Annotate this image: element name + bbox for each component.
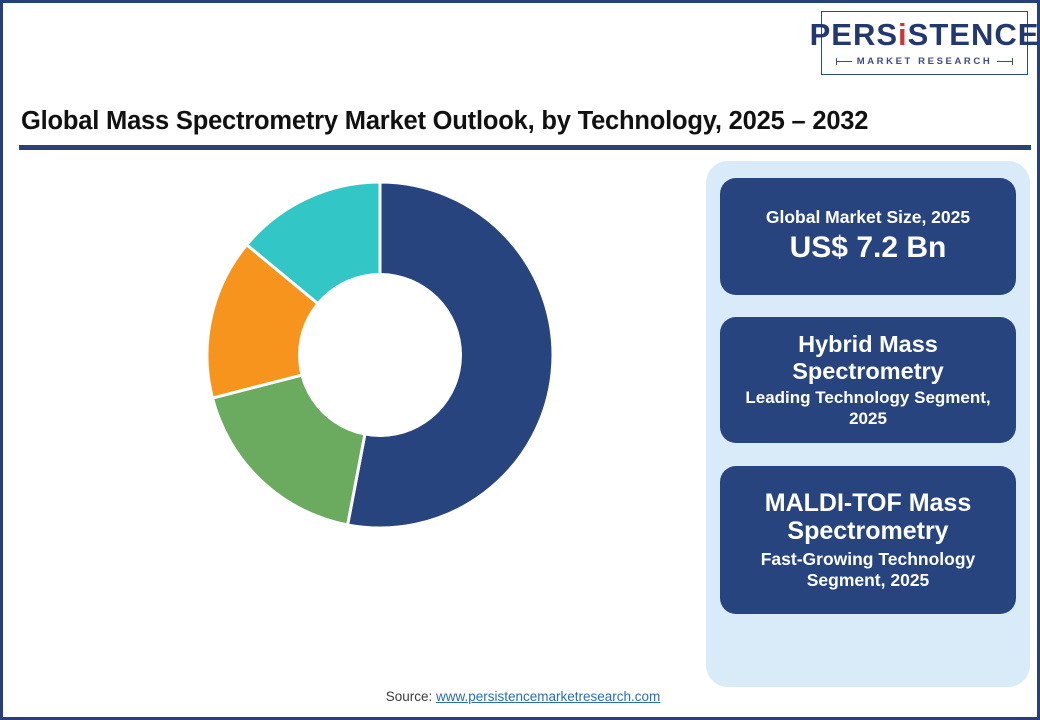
fastest-segment-subtitle: Fast-Growing Technology Segment, 2025 bbox=[720, 549, 1016, 591]
logo-rule-right-icon bbox=[997, 61, 1013, 62]
logo-wordmark: PERSiSTENCE bbox=[810, 19, 1040, 50]
logo-tagline-row: MARKET RESEARCH bbox=[836, 56, 1014, 67]
source-line: Source: www.persistencemarketresearch.co… bbox=[3, 689, 1040, 704]
title-underline-rule bbox=[19, 145, 1031, 150]
market-size-value: US$ 7.2 Bn bbox=[790, 230, 947, 266]
logo-wordmark-part1: PERS bbox=[810, 17, 898, 52]
leading-segment-title: Hybrid Mass Spectrometry bbox=[720, 331, 1016, 384]
highlights-panel: Global Market Size, 2025 US$ 7.2 Bn Hybr… bbox=[706, 161, 1030, 687]
chart-area: Hybrid Mass Spectrometry MALDI-TOF Mass … bbox=[17, 163, 697, 553]
page-title: Global Mass Spectrometry Market Outlook,… bbox=[21, 107, 868, 136]
logo-wordmark-accent-i: i bbox=[898, 17, 908, 52]
logo-rule-left-icon bbox=[836, 61, 852, 62]
card-fastest-growing-segment: MALDI-TOF Mass Spectrometry Fast-Growing… bbox=[720, 466, 1016, 614]
card-global-market-size: Global Market Size, 2025 US$ 7.2 Bn bbox=[720, 178, 1016, 295]
card-leading-segment: Hybrid Mass Spectrometry Leading Technol… bbox=[720, 317, 1016, 443]
market-size-caption: Global Market Size, 2025 bbox=[766, 207, 970, 228]
legend-item-hybrid[interactable]: Hybrid Mass Spectrometry bbox=[65, 715, 415, 720]
source-label: Source: bbox=[386, 689, 436, 704]
source-url-link[interactable]: www.persistencemarketresearch.com bbox=[436, 689, 660, 704]
legend-label-hybrid: Hybrid Mass Spectrometry bbox=[85, 715, 279, 720]
donut-chart-svg bbox=[200, 175, 560, 535]
logo-tagline: MARKET RESEARCH bbox=[857, 56, 993, 67]
donut-center-hole bbox=[298, 273, 462, 437]
legend-label-maldi-tof: MALDI-TOF Mass Spectrometry bbox=[435, 715, 670, 720]
infographic-frame: PERSiSTENCE MARKET RESEARCH Global Mass … bbox=[0, 0, 1040, 720]
chart-legend: Hybrid Mass Spectrometry MALDI-TOF Mass … bbox=[65, 715, 713, 720]
leading-segment-subtitle: Leading Technology Segment, 2025 bbox=[720, 388, 1016, 429]
donut-chart bbox=[200, 175, 560, 535]
company-logo: PERSiSTENCE MARKET RESEARCH bbox=[821, 11, 1028, 75]
fastest-segment-title: MALDI-TOF Mass Spectrometry bbox=[720, 489, 1016, 546]
logo-wordmark-part2: STENCE bbox=[908, 17, 1040, 52]
legend-item-maldi-tof[interactable]: MALDI-TOF Mass Spectrometry bbox=[415, 715, 713, 720]
